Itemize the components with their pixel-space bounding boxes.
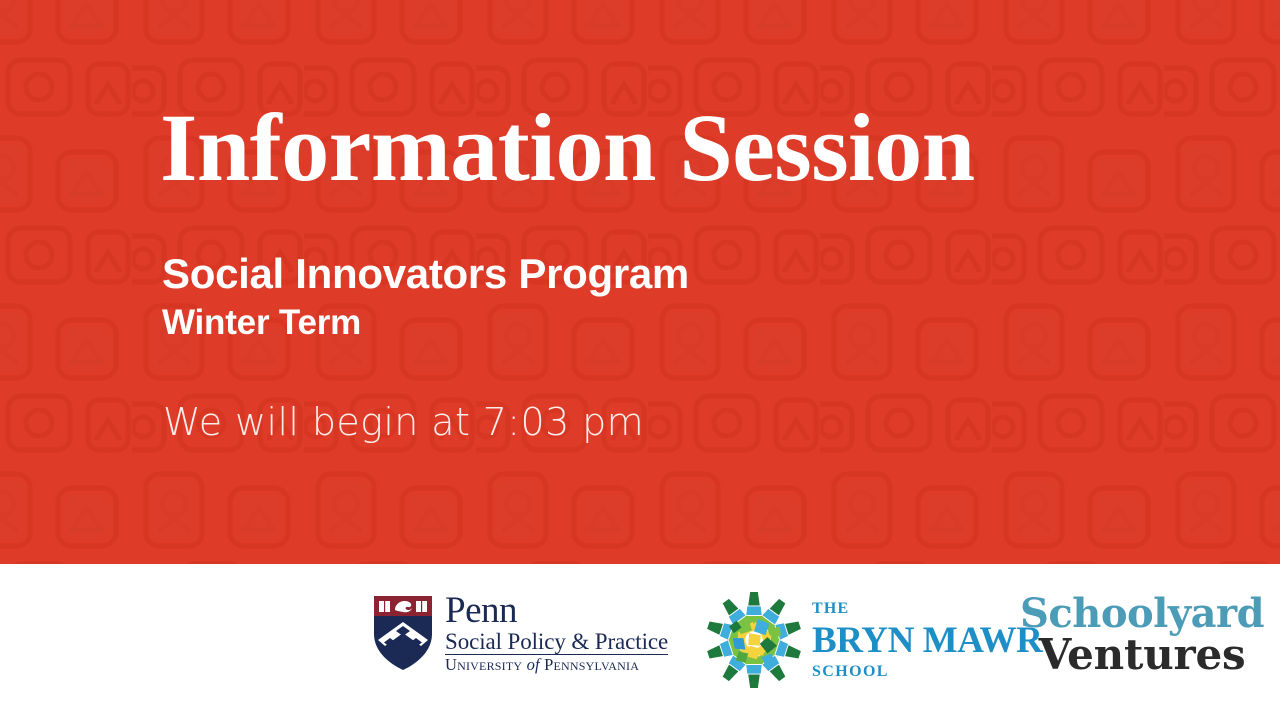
ventures-word: Ventures [1020, 634, 1264, 676]
penn-university-suffix: Pennsylvania [544, 655, 639, 674]
bryn-mawr-name: BRYN MAWR [812, 622, 1042, 659]
program-term: Winter Term [162, 302, 689, 343]
penn-wordmark: Penn Social Policy & Practice University… [445, 592, 668, 674]
hero-text-block: Information Session Social Innovators Pr… [0, 0, 1280, 564]
mosaic-starburst-icon [706, 588, 802, 692]
bryn-mawr-wordmark: THE BRYN MAWR SCHOOL [812, 601, 1042, 680]
logo-row: Penn Social Policy & Practice University… [0, 564, 1280, 720]
schoolyard-ventures-logo: Schoolyard Ventures [1020, 594, 1264, 676]
presentation-slide: Information Session Social Innovators Pr… [0, 0, 1280, 720]
begin-time-text: We will begin at 7:03 pm [163, 402, 644, 444]
penn-university-prefix: University [445, 655, 522, 674]
bryn-mawr-school: SCHOOL [812, 664, 1042, 680]
bryn-mawr-the: THE [812, 601, 1042, 617]
footer-band: Penn Social Policy & Practice University… [0, 564, 1280, 720]
penn-logo: Penn Social Policy & Practice University… [372, 592, 668, 674]
penn-shield-icon [372, 594, 434, 672]
program-name: Social Innovators Program [162, 250, 689, 297]
program-subtitle: Social Innovators Program Winter Term [162, 249, 689, 343]
penn-university-of: of [527, 655, 540, 674]
penn-name: Penn [445, 592, 668, 629]
bryn-mawr-logo: THE BRYN MAWR SCHOOL [706, 588, 1042, 692]
hero-panel: Information Session Social Innovators Pr… [0, 0, 1280, 564]
page-title: Information Session [160, 100, 975, 196]
penn-unit-name: Social Policy & Practice [445, 630, 668, 655]
penn-university-line: University of Pennsylvania [445, 657, 668, 674]
schoolyard-word: Schoolyard [1020, 594, 1264, 633]
